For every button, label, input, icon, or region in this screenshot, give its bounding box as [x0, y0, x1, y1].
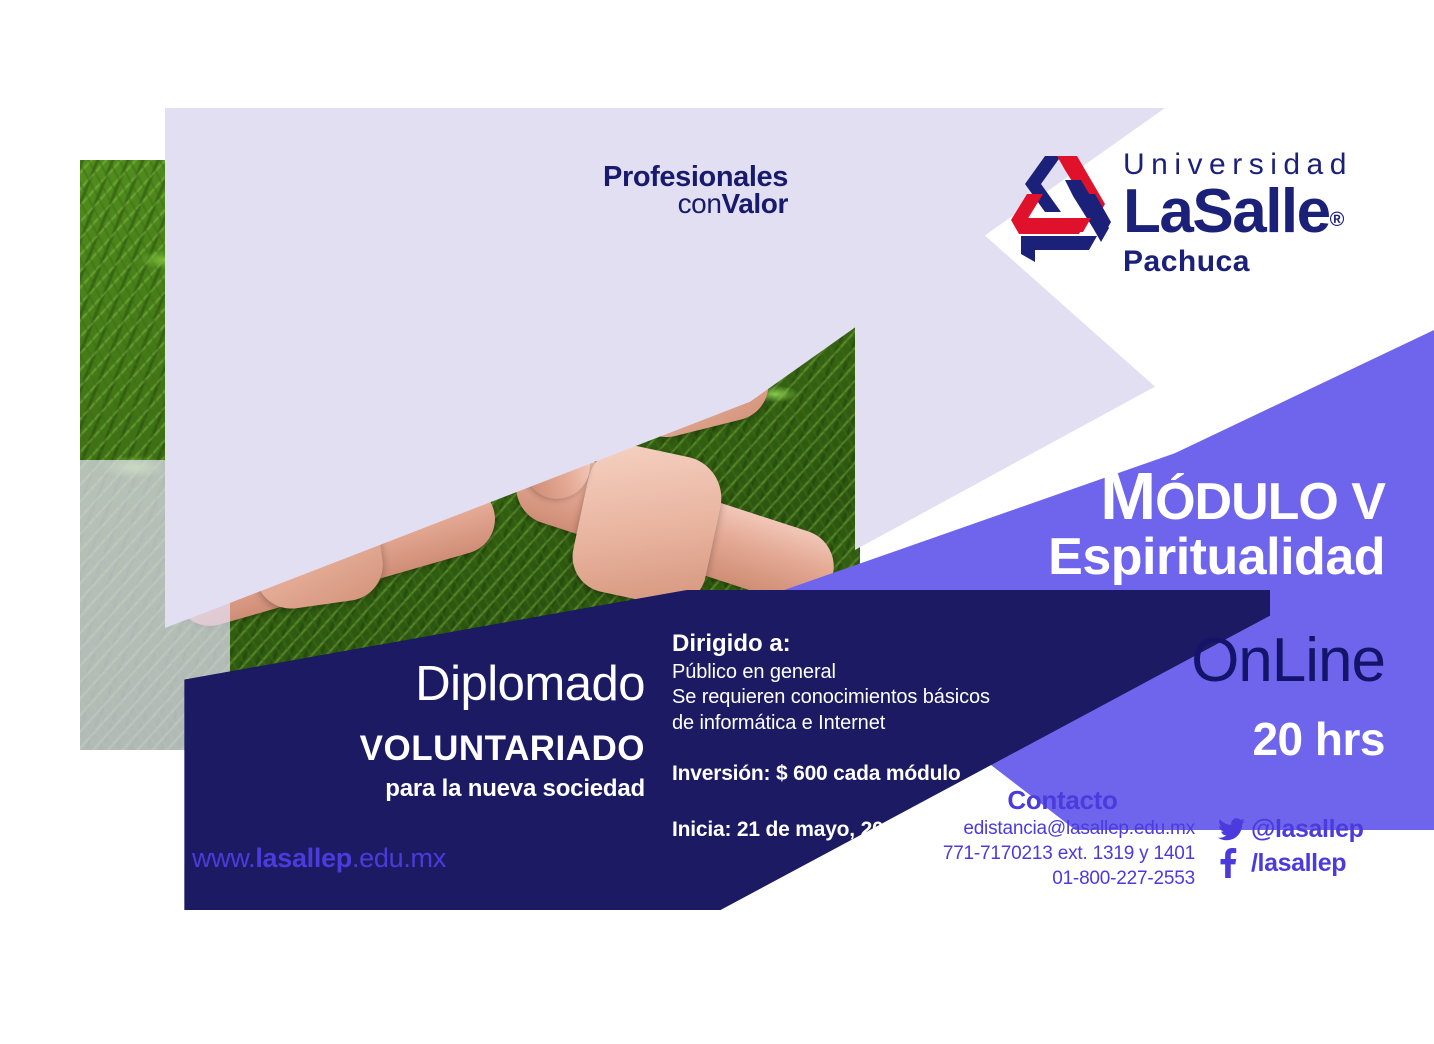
- module-hours: 20 hrs: [1100, 712, 1385, 766]
- social-facebook[interactable]: /lasallep: [1218, 846, 1364, 880]
- contact-toll-free[interactable]: 01-800-227-2553: [930, 866, 1195, 891]
- details-heading: Dirigido a:: [672, 630, 1012, 658]
- logo-universidad: Universidad: [1123, 150, 1353, 180]
- program-subtitle: para la nueva sociedad: [270, 777, 645, 801]
- tagline-valor: Valor: [722, 188, 788, 219]
- details-audience-2: Se requieren conocimientos básicos: [672, 685, 1012, 711]
- social-links: @lasallep /lasallep: [1218, 812, 1364, 880]
- logo-pachuca: Pachuca: [1123, 247, 1353, 277]
- details-audience-1: Público en general: [672, 660, 1012, 686]
- module-subtitle: Espiritualidad: [960, 530, 1385, 585]
- la-salle-logo-mark: [1005, 150, 1117, 268]
- logo-lasalle: LaSalle®: [1123, 181, 1353, 243]
- details-audience-3: de informática e Internet: [672, 711, 1012, 737]
- tagline-line-2: conValor: [578, 190, 788, 218]
- website-prefix: www.: [192, 843, 255, 873]
- contact-email[interactable]: edistancia@lasallep.edu.mx: [930, 816, 1195, 841]
- program-name: VOLUNTARIADO: [270, 731, 645, 766]
- program-block: Diplomado VOLUNTARIADO para la nueva soc…: [270, 660, 645, 801]
- module-title-rest: ÓDULO V: [1155, 473, 1385, 531]
- contact-title: Contacto: [930, 785, 1195, 816]
- flyer-canvas: Profesionales conValor Universidad LaSal…: [0, 0, 1434, 1044]
- website-url[interactable]: www.lasallep.edu.mx: [192, 843, 446, 874]
- logo-lasalle-text: LaSalle: [1123, 177, 1330, 246]
- tagline-con: con: [678, 188, 722, 219]
- website-domain: lasallep: [255, 843, 352, 873]
- social-twitter[interactable]: @lasallep: [1218, 812, 1364, 846]
- logo-wordmark: Universidad LaSalle® Pachuca: [1123, 150, 1353, 277]
- contact-phone[interactable]: 771-7170213 ext. 1319 y 1401: [930, 841, 1195, 866]
- module-title-first: M: [1100, 459, 1155, 534]
- brand-tagline: Profesionales conValor: [578, 163, 788, 218]
- module-mode: OnLine: [1040, 630, 1385, 692]
- university-logo: Universidad LaSalle® Pachuca: [1005, 150, 1353, 277]
- twitter-bird-icon: [1218, 818, 1248, 841]
- twitter-handle: @lasallep: [1251, 815, 1364, 844]
- website-suffix: .edu.mx: [352, 843, 446, 873]
- facebook-f-icon: [1218, 848, 1248, 878]
- details-investment: Inversión: $ 600 cada módulo: [672, 762, 1012, 786]
- program-kind: Diplomado: [270, 660, 645, 709]
- module-title-block: MÓDULO V Espiritualidad: [960, 466, 1385, 584]
- contact-block: Contacto edistancia@lasallep.edu.mx 771-…: [930, 785, 1195, 891]
- facebook-handle: /lasallep: [1251, 849, 1346, 878]
- module-number: MÓDULO V: [960, 466, 1385, 528]
- registered-mark-icon: ®: [1330, 209, 1343, 231]
